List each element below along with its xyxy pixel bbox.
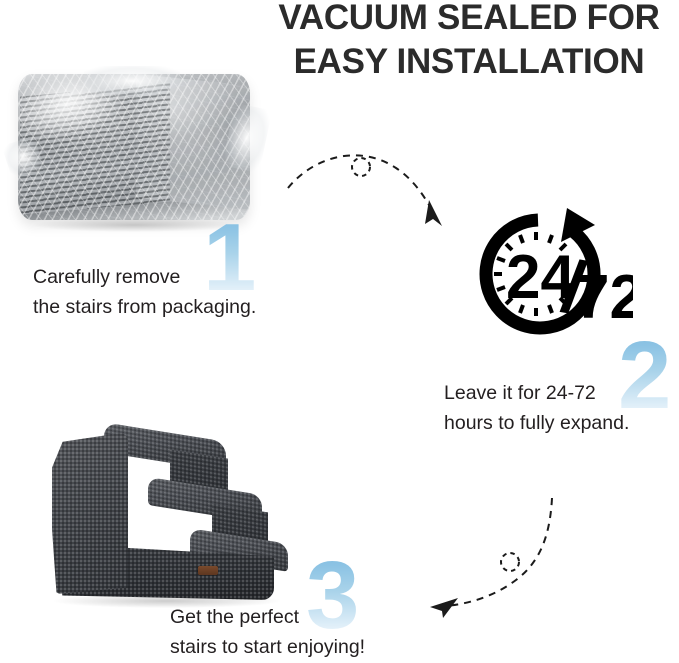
- brand-tag: [198, 566, 218, 575]
- step-2-caption-line-1: Leave it for 24-72: [444, 378, 629, 408]
- page-title: VACUUM SEALED FOR EASY INSTALLATION: [255, 0, 679, 84]
- pet-stairs-photo: [44, 424, 284, 604]
- step-1-caption: Carefully remove the stairs from packagi…: [33, 262, 256, 322]
- infographic-canvas: VACUUM SEALED FOR EASY INSTALLATION 1 Ca…: [0, 0, 679, 663]
- clock-24-72-icon: 24 / 72: [443, 206, 633, 356]
- step-2-caption-line-2: hours to fully expand.: [444, 408, 629, 438]
- stair-side-panel: [52, 432, 128, 594]
- step-3-caption-line-2: stairs to start enjoying!: [170, 632, 365, 662]
- step-3-caption: Get the perfect stairs to start enjoying…: [170, 602, 365, 662]
- bag-seal-top: [84, 66, 180, 96]
- step-2-caption: Leave it for 24-72 hours to fully expand…: [444, 378, 629, 438]
- step-1-caption-line-1: Carefully remove: [33, 262, 256, 292]
- page-title-line-2: EASY INSTALLATION: [255, 40, 679, 84]
- step-3-caption-line-1: Get the perfect: [170, 602, 365, 632]
- page-title-line-1: VACUUM SEALED FOR: [278, 0, 659, 37]
- dashed-arrow-step1-to-step2: [286, 146, 452, 230]
- step-1-caption-line-2: the stairs from packaging.: [33, 292, 256, 322]
- dashed-arrow-step2-to-step3: [424, 496, 584, 622]
